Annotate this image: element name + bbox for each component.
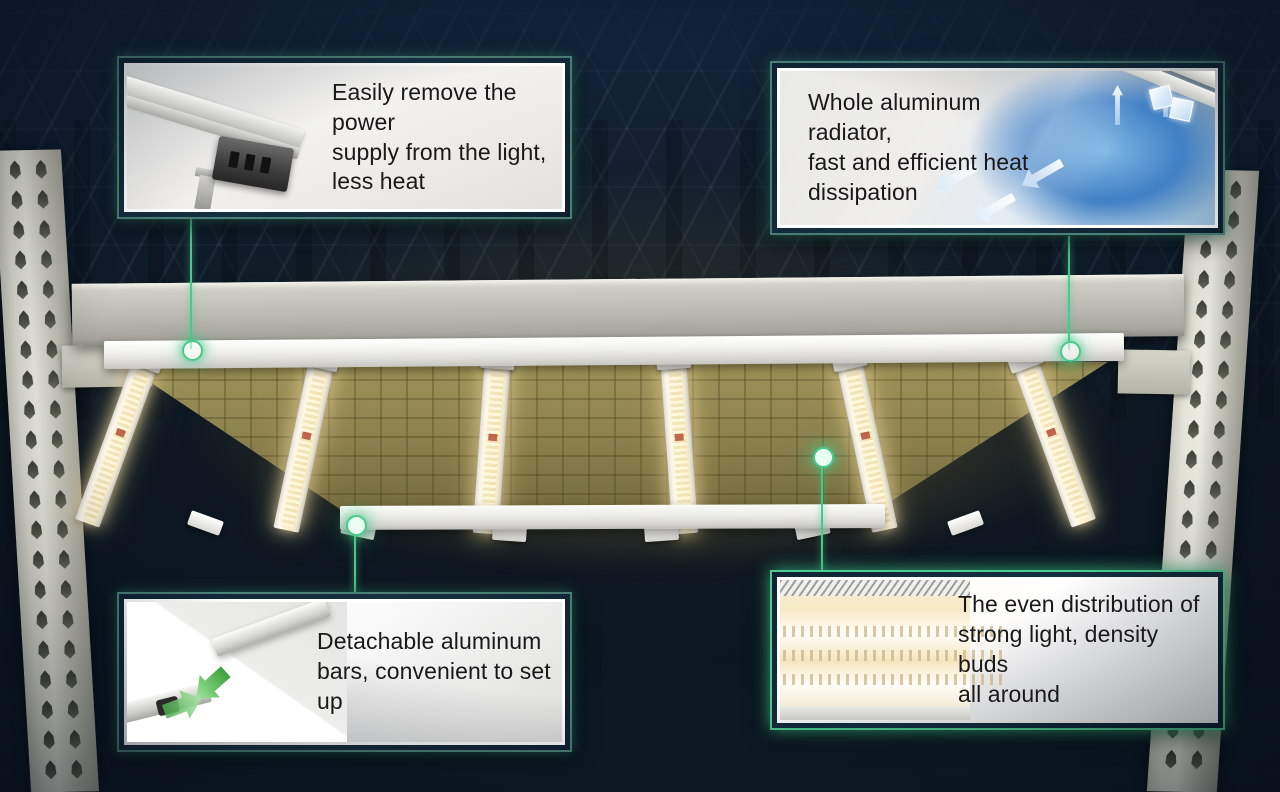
pillar-hole-row	[24, 430, 64, 450]
pillar-hole-row	[1182, 480, 1222, 500]
pillar-hole	[24, 430, 38, 449]
rack-brace-right	[1118, 349, 1191, 394]
pillar-hole	[1212, 420, 1226, 439]
rack-brace-left	[62, 344, 153, 388]
pillar-hole	[55, 520, 69, 539]
callout-radiator[interactable]: Whole aluminum radiator, fast and effici…	[770, 61, 1225, 235]
pillar-hole	[1188, 390, 1202, 409]
infographic-canvas: Easily remove the power supply from the …	[0, 0, 1280, 792]
pillar-hole	[38, 220, 52, 239]
pillar-hole	[43, 310, 57, 329]
callout-detachable-bars[interactable]: Detachable aluminum bars, convenient to …	[117, 592, 572, 752]
pillar-hole	[31, 550, 45, 569]
pillar-hole	[15, 280, 29, 299]
pillar-hole	[26, 460, 40, 479]
pillar-hole	[8, 160, 22, 179]
pillar-hole	[37, 640, 51, 659]
pillar-hole	[1225, 240, 1239, 259]
pillar-hole-row	[28, 490, 68, 510]
callout-detachable-bars-text: Detachable aluminum bars, convenient to …	[317, 627, 562, 717]
pillar-hole-row	[1197, 270, 1237, 290]
callout-even-distribution[interactable]: The even distribution of strong light, d…	[770, 570, 1225, 730]
pillar-hole-row	[21, 370, 61, 390]
pillar-hole	[1182, 480, 1196, 499]
leader-node-even-distribution	[813, 447, 834, 468]
pillar-hole-row	[1188, 390, 1228, 410]
pillar-hole	[17, 310, 31, 329]
pillar-hole-row	[13, 250, 53, 270]
pillar-hole	[1195, 300, 1209, 319]
pillar-hole-row	[31, 550, 71, 570]
pillar-hole	[70, 760, 84, 779]
pillar-hole-row	[10, 190, 50, 210]
pillar-hole-row	[1190, 360, 1230, 380]
pillar-hole	[29, 520, 43, 539]
pillar-hole	[35, 610, 49, 629]
power-supply-detach-photo-icon	[127, 76, 332, 212]
pillar-hole	[1216, 360, 1230, 379]
pillar-hole	[50, 430, 64, 449]
pillar-hole	[1184, 450, 1198, 469]
callout-radiator-text: Whole aluminum radiator, fast and effici…	[808, 88, 1058, 208]
pillar-hole	[1223, 270, 1237, 289]
pillar-hole	[1227, 210, 1241, 229]
pillar-hole	[1206, 510, 1220, 529]
ice-cube-icon	[1151, 87, 1197, 127]
pillar-hole	[46, 370, 60, 389]
pillar-hole	[1190, 360, 1204, 379]
pillar-hole-row	[38, 670, 78, 690]
pillar-hole	[1164, 749, 1178, 768]
pillar-hole	[64, 670, 78, 689]
pillar-hole	[1214, 390, 1228, 409]
pillar-hole	[59, 580, 73, 599]
pillar-hole	[44, 760, 58, 779]
pillar-hole	[48, 400, 62, 419]
pillar-hole-row	[17, 310, 57, 330]
pillar-hole	[1229, 180, 1243, 199]
pillar-hole	[12, 220, 26, 239]
callout-detachable-bars-frame: Detachable aluminum bars, convenient to …	[124, 599, 565, 745]
leader-node-power-supply	[182, 340, 203, 361]
callout-even-distribution-text: The even distribution of strong light, d…	[958, 590, 1215, 710]
pillar-hole	[34, 160, 48, 179]
led-bar-closeup-photo-icon	[780, 580, 970, 720]
pillar-hole	[19, 340, 33, 359]
pillar-hole	[33, 580, 47, 599]
pillar-hole	[39, 250, 53, 269]
callout-power-supply-text: Easily remove the power supply from the …	[332, 78, 562, 198]
callout-even-distribution-frame: The even distribution of strong light, d…	[777, 577, 1218, 723]
pillar-hole-row	[1186, 420, 1226, 440]
pillar-hole	[38, 670, 52, 689]
pillar-hole	[21, 370, 35, 389]
pillar-hole	[66, 700, 80, 719]
pillar-hole	[36, 190, 50, 209]
pillar-hole	[52, 460, 66, 479]
pillar-hole	[41, 280, 55, 299]
pillar-hole	[68, 730, 82, 749]
leader-node-radiator	[1060, 341, 1081, 362]
pillar-hole	[13, 250, 27, 269]
pillar-hole-row	[26, 460, 66, 480]
pillar-hole	[61, 610, 75, 629]
pillar-hole	[54, 490, 68, 509]
pillar-hole	[28, 490, 42, 509]
pillar-hole-row	[42, 730, 82, 750]
pillar-hole-row	[1184, 450, 1224, 470]
pillar-hole	[1186, 420, 1200, 439]
pillar-hole-row	[1199, 240, 1239, 260]
pillar-hole-row	[1164, 749, 1204, 769]
pillar-hole	[10, 190, 24, 209]
detachable-bar-exploded-photo-icon	[127, 602, 327, 742]
pillar-hole	[1193, 330, 1207, 349]
leader-line-radiator	[1068, 236, 1070, 350]
pillar-hole	[22, 400, 36, 419]
pillar-hole-row	[35, 610, 75, 630]
pillar-hole	[1190, 750, 1204, 769]
pillar-hole	[1218, 330, 1232, 349]
pillar-hole-row	[1193, 330, 1233, 350]
pillar-hole-row	[15, 280, 55, 300]
horizontal-rack-beam	[72, 274, 1184, 346]
pillar-hole	[1208, 480, 1222, 499]
leader-node-detachable-bars	[346, 515, 367, 536]
pillar-hole	[42, 730, 56, 749]
pillar-hole-row	[44, 760, 84, 780]
pillar-hole	[57, 550, 71, 569]
pillar-hole	[1197, 270, 1211, 289]
leader-line-power-supply	[190, 219, 192, 349]
pillar-hole	[63, 640, 77, 659]
callout-radiator-frame: Whole aluminum radiator, fast and effici…	[777, 68, 1218, 228]
pillar-hole-row	[19, 340, 59, 360]
pillar-hole-row	[29, 520, 69, 540]
pillar-hole-row	[40, 700, 80, 720]
pillar-hole	[1199, 240, 1213, 259]
pillar-hole	[1221, 300, 1235, 319]
pillar-hole	[40, 700, 54, 719]
pillar-hole-row	[1180, 510, 1220, 530]
callout-power-supply[interactable]: Easily remove the power supply from the …	[117, 56, 572, 219]
pillar-hole	[45, 340, 59, 359]
pillar-hole-row	[1178, 540, 1218, 560]
pillar-hole	[1210, 450, 1224, 469]
pillar-hole-row	[22, 400, 62, 420]
pillar-hole-row	[37, 640, 77, 660]
pillar-hole-row	[8, 160, 48, 180]
pillar-hole-row	[12, 220, 52, 240]
pillar-hole	[1178, 540, 1192, 559]
callout-power-supply-frame: Easily remove the power supply from the …	[124, 63, 565, 212]
pillar-hole-row	[33, 580, 73, 600]
leader-line-even-distribution	[821, 456, 823, 572]
pillar-hole	[1204, 540, 1218, 559]
pillar-hole-row	[1195, 300, 1235, 320]
pillar-hole	[1180, 510, 1194, 529]
